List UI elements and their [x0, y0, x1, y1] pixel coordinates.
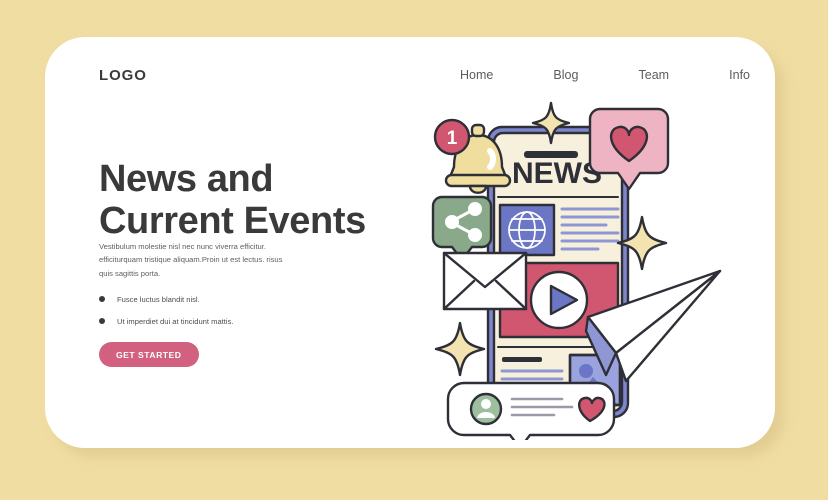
phone-headline: NEWS	[512, 157, 602, 190]
logo[interactable]: LOGO	[99, 67, 147, 84]
list-item-label: Fusce luctus blandit nisl.	[117, 295, 200, 304]
list-item: Ut imperdiet dui at tincidunt mattis.	[99, 310, 319, 332]
notification-count: 1	[447, 128, 458, 149]
page-title: News and Current Events	[99, 158, 366, 242]
headline-line-1: News and	[99, 158, 273, 200]
news-illustration: NEWS	[420, 85, 750, 440]
sparkle-icon	[436, 323, 484, 375]
nav-item-blog[interactable]: Blog	[553, 68, 578, 82]
get-started-button[interactable]: GET STARTED	[99, 342, 199, 367]
landing-page: LOGO Home Blog Team Info News and Curren…	[0, 0, 828, 500]
list-item-label: Ut imperdiet dui at tincidunt mattis.	[117, 317, 234, 326]
main-nav: Home Blog Team Info	[460, 68, 750, 82]
nav-item-info[interactable]: Info	[729, 68, 750, 82]
envelope-icon	[444, 253, 526, 309]
notification-badge: 1	[435, 120, 469, 154]
comment-bubble	[448, 383, 614, 440]
nav-item-home[interactable]: Home	[460, 68, 493, 82]
headline-line-2: Current Events	[99, 200, 366, 242]
nav-item-team[interactable]: Team	[639, 68, 670, 82]
list-item: Fusce luctus blandit nisl.	[99, 288, 319, 310]
share-bubble	[433, 197, 491, 260]
bullet-dot-icon	[99, 318, 105, 324]
bullet-dot-icon	[99, 296, 105, 302]
feature-list: Fusce luctus blandit nisl. Ut imperdiet …	[99, 288, 319, 332]
avatar	[471, 394, 501, 424]
hero-paragraph: Vestibulum molestie nisl nec nunc viverr…	[99, 240, 289, 281]
